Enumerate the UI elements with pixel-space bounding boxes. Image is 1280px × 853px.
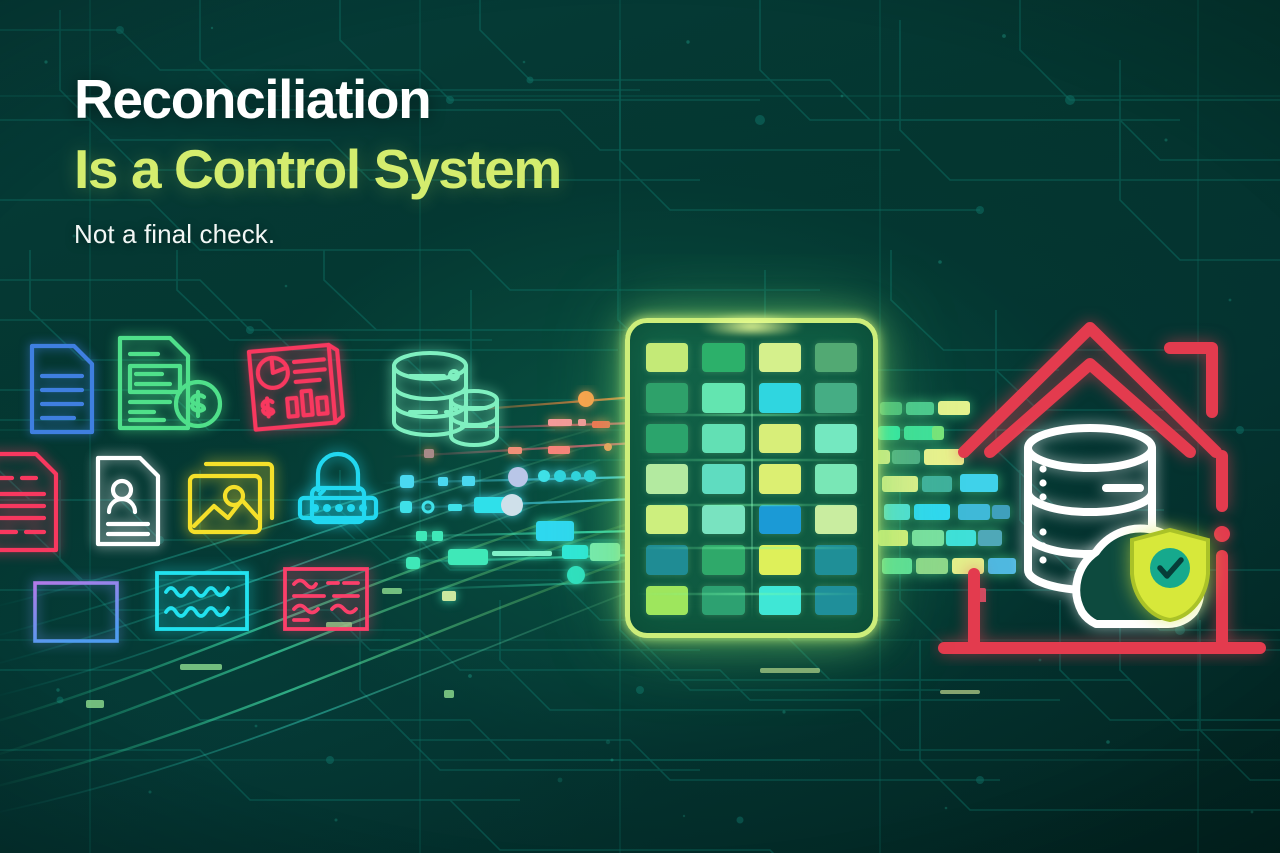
grid-cell-r6-c4 [815, 545, 857, 574]
document-icon [26, 340, 98, 438]
reconciliation-engine-panel[interactable] [625, 318, 878, 638]
grid-cell-r5-c1 [646, 505, 688, 534]
grid-cell-r5-c3 [759, 505, 801, 534]
panel-scan-line [636, 547, 867, 549]
grid-cell-r3-c3 [759, 424, 801, 453]
lock-password-icon [294, 448, 382, 538]
document-alert-icon [0, 448, 64, 556]
grid-cell-r6-c2 [702, 545, 744, 574]
panel-scan-line [636, 593, 867, 595]
grid-cell-r5-c2 [702, 505, 744, 534]
id-card-icon [92, 452, 164, 550]
panel-scan-line [636, 459, 867, 461]
grid-cell-r2-c2 [702, 383, 744, 412]
headline-line-2: Is a Control System [74, 142, 561, 197]
waveform-red-icon [280, 564, 372, 634]
grid-cell-r1-c3 [759, 343, 801, 372]
spreadsheet-icon [30, 578, 122, 646]
panel-top-glow [698, 313, 805, 335]
grid-cell-r4-c3 [759, 464, 801, 493]
grid-cell-r3-c2 [702, 424, 744, 453]
grid-cell-r4-c2 [702, 464, 744, 493]
grid-cell-r3-c4 [815, 424, 857, 453]
grid-cell-r6-c1 [646, 545, 688, 574]
grid-cell-r7-c4 [815, 586, 857, 615]
panel-scan-line [636, 414, 867, 416]
grid-cell-r6-c3 [759, 545, 801, 574]
grid-cell-r7-c1 [646, 586, 688, 615]
waveform-cyan-icon [152, 568, 252, 634]
headline-subtitle: Not a final check. [74, 219, 561, 250]
image-gallery-icon [184, 456, 280, 538]
grid-cell-r1-c1 [646, 343, 688, 372]
grid-cell-r4-c1 [646, 464, 688, 493]
hero-banner: Reconciliation Is a Control System Not a… [0, 0, 1280, 853]
grid-cell-r1-c2 [702, 343, 744, 372]
grid-cell-r2-c3 [759, 383, 801, 412]
panel-scan-line [636, 504, 867, 506]
database-icon [388, 346, 504, 450]
headline-block: Reconciliation Is a Control System Not a… [74, 72, 561, 250]
grid-cell-r7-c2 [702, 586, 744, 615]
reconciliation-grid [646, 343, 857, 615]
grid-cell-r5-c4 [815, 505, 857, 534]
shield-check-icon [1132, 530, 1208, 620]
grid-cell-r3-c1 [646, 424, 688, 453]
destination-scene [930, 306, 1280, 671]
grid-cell-r1-c4 [815, 343, 857, 372]
grid-cell-r4-c4 [815, 464, 857, 493]
grid-cell-r2-c4 [815, 383, 857, 412]
invoice-dollar-icon [114, 332, 226, 436]
financial-report-icon [244, 334, 346, 436]
headline-line-1: Reconciliation [74, 72, 561, 127]
grid-cell-r7-c3 [759, 586, 801, 615]
grid-cell-r2-c1 [646, 383, 688, 412]
